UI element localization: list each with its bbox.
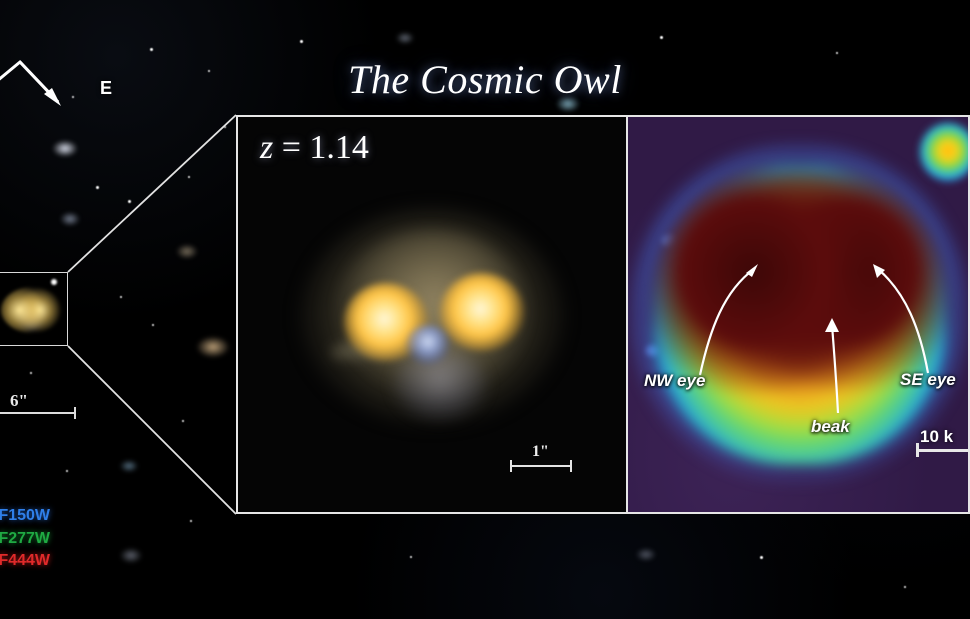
redshift-label: z = 1.14 (260, 129, 369, 167)
scalebar-6arcsec (0, 412, 76, 414)
star (660, 36, 663, 39)
background-galaxy (60, 212, 80, 226)
star (96, 186, 99, 189)
scalebar-10kpc (916, 449, 968, 452)
filter-legend-red: W+F444W (0, 550, 50, 573)
star (224, 126, 226, 128)
star (182, 420, 184, 422)
annotation-beak: beak (811, 417, 850, 437)
compass-rose (0, 44, 118, 154)
background-galaxy (120, 460, 138, 472)
background-galaxy (196, 336, 230, 358)
owl-emission-map (652, 163, 948, 465)
filter-legend-blue: W+F150W (0, 505, 50, 528)
companion-source (920, 123, 968, 181)
background-galaxy (176, 244, 198, 259)
thumbnail-star (51, 279, 57, 285)
star (190, 520, 192, 522)
redshift-value: = 1.14 (282, 129, 369, 166)
star (904, 586, 906, 588)
scalebar-10kpc-label: 10 k (920, 427, 953, 447)
cosmic-owl-thumbnail (0, 272, 68, 346)
owl-galaxy-nircam (300, 209, 564, 425)
background-galaxy (120, 548, 142, 563)
filter-legend: W+F150W W+F277W W+F444W (0, 505, 50, 573)
inset-panel-group: z = 1.14 1" (236, 115, 970, 514)
star (188, 176, 190, 178)
star (410, 556, 412, 558)
page-title: The Cosmic Owl (0, 56, 970, 103)
star (300, 40, 303, 43)
thumbnail-owl-galaxy (1, 287, 63, 333)
annotation-se-eye: SE eye (900, 370, 956, 390)
annotation-nw-eye: NW eye (644, 371, 705, 391)
background-galaxy (396, 32, 414, 44)
star (760, 556, 763, 559)
scalebar-6arcsec-label: 6" (10, 391, 28, 411)
star (120, 296, 122, 298)
star (150, 48, 153, 51)
beak-nircam (406, 325, 450, 365)
filter-legend-green: W+F277W (0, 528, 50, 551)
star (152, 324, 154, 326)
scalebar-1arcsec (510, 465, 572, 467)
star (128, 200, 131, 203)
redshift-symbol: z (260, 129, 273, 166)
se-eye-nircam (440, 273, 524, 351)
compass-east-label: E (100, 78, 112, 99)
background-galaxy (636, 548, 656, 561)
scalebar-1arcsec-label: 1" (532, 443, 549, 461)
emission-line-map-panel: NW eye beak SE eye 10 k (626, 117, 968, 512)
star (30, 372, 32, 374)
star (836, 52, 838, 54)
star (66, 470, 68, 472)
figure-canvas: The Cosmic Owl E 6" W+F150W W+F277W W+F4… (0, 0, 970, 619)
nircam-colour-panel: z = 1.14 1" (238, 117, 626, 512)
